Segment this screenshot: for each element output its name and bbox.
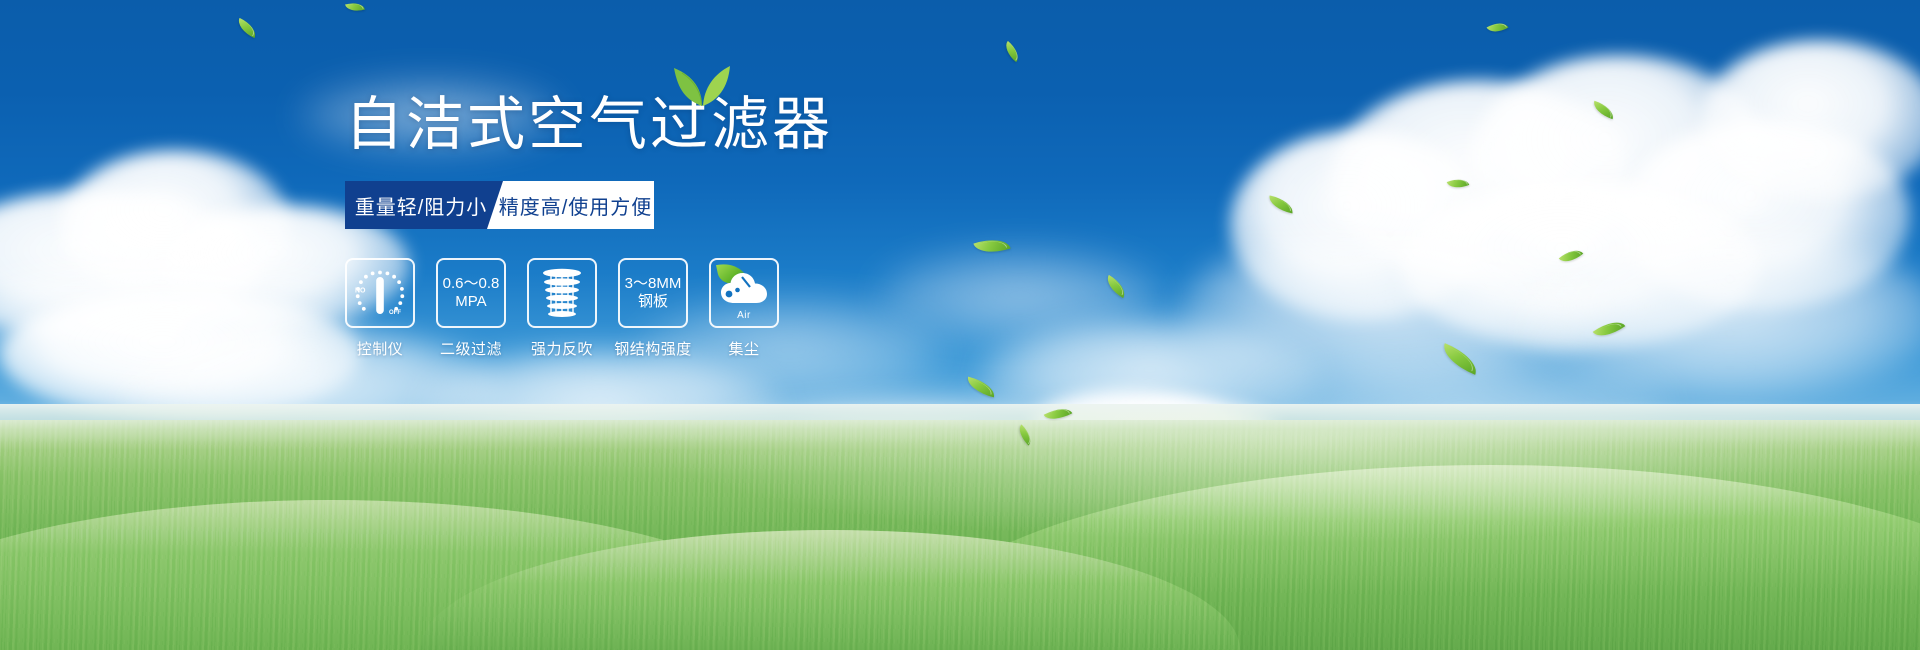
feature-icon-box: Air bbox=[709, 258, 779, 328]
hero-banner: 自洁式空气过滤器 重量轻/阻力小 精度高/使用方便 bbox=[0, 0, 1920, 650]
page-title: 自洁式空气过滤器 bbox=[345, 96, 905, 154]
pressure-value-icon: 0.6～0.8 MPA bbox=[443, 275, 500, 310]
feature-item-steel-plate: 3～8MM 钢板 钢结构强度 bbox=[618, 258, 688, 359]
feature-label: 控制仪 bbox=[357, 338, 404, 359]
feature-icon-box bbox=[527, 258, 597, 328]
feature-item-backblow: 强力反吹 bbox=[527, 258, 597, 359]
grass-highlight bbox=[0, 420, 1920, 650]
feature-item-pressure: 0.6～0.8 MPA 二级过滤 bbox=[436, 258, 506, 359]
feature-label: 二级过滤 bbox=[440, 338, 502, 359]
feature-label: 强力反吹 bbox=[531, 338, 593, 359]
feature-label: 钢结构强度 bbox=[614, 338, 692, 359]
two-green-leaves-icon bbox=[672, 64, 732, 106]
feature-item-dust-collection: Air 集尘 bbox=[709, 258, 779, 359]
filter-cartridge-icon bbox=[535, 265, 589, 321]
tagline-badges: 重量轻/阻力小 精度高/使用方便 bbox=[345, 181, 670, 229]
dial-label-no: NO bbox=[355, 288, 366, 295]
dial-label-off: OFF bbox=[389, 310, 401, 316]
tagline-badge-left: 重量轻/阻力小 bbox=[345, 181, 503, 229]
banner-content: 自洁式空气过滤器 重量轻/阻力小 精度高/使用方便 bbox=[345, 96, 905, 359]
feature-icon-box: 3～8MM 钢板 bbox=[618, 258, 688, 328]
steel-plate-value-icon: 3～8MM 钢板 bbox=[625, 275, 682, 310]
feature-item-control-gauge: NO OFF 控制仪 bbox=[345, 258, 415, 359]
air-cloud-icon bbox=[716, 271, 772, 309]
feature-icon-box: NO OFF bbox=[345, 258, 415, 328]
air-caption: Air bbox=[711, 310, 777, 321]
feature-icon-box: 0.6～0.8 MPA bbox=[436, 258, 506, 328]
feature-icon-row: NO OFF 控制仪 0.6～0.8 MPA 二级过滤 bbox=[345, 258, 905, 359]
gauge-dial-icon: NO OFF bbox=[349, 262, 411, 324]
tagline-badge-right: 精度高/使用方便 bbox=[487, 181, 654, 229]
feature-label: 集尘 bbox=[728, 338, 759, 359]
title-wrap: 自洁式空气过滤器 bbox=[345, 96, 905, 154]
horizon-blend bbox=[0, 404, 1920, 450]
